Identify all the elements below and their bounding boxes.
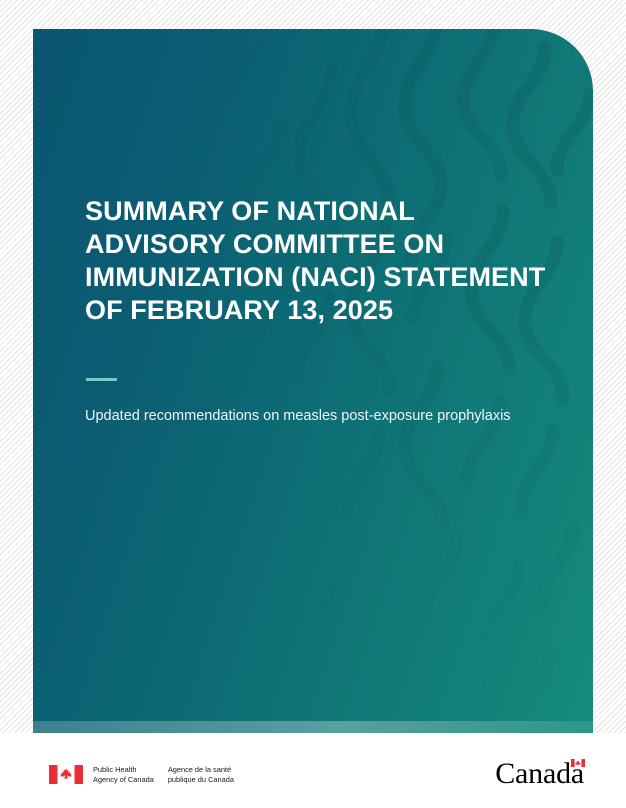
page-title: SUMMARY OF NATIONAL ADVISORY COMMITTEE O… (85, 195, 551, 327)
signature-text-english: Public Health Agency of Canada (93, 765, 154, 783)
cover-panel: SUMMARY OF NATIONAL ADVISORY COMMITTEE O… (33, 29, 593, 733)
cover-text-block: SUMMARY OF NATIONAL ADVISORY COMMITTEE O… (85, 195, 551, 426)
signature-wordmark: Public Health Agency of Canada Agence de… (93, 765, 234, 783)
canada-wordmark: Canada (495, 759, 584, 789)
canada-flag-icon (49, 765, 83, 784)
federal-identity-signature: Public Health Agency of Canada Agence de… (49, 765, 234, 784)
page-subtitle: Updated recommendations on measles post-… (85, 406, 551, 426)
signature-text-french: Agence de la santé publique du Canada (168, 765, 234, 783)
canada-flag-icon (571, 759, 585, 767)
title-divider-rule (86, 378, 117, 381)
panel-bottom-strip (33, 721, 593, 733)
document-page: SUMMARY OF NATIONAL ADVISORY COMMITTEE O… (0, 0, 626, 808)
page-footer: Public Health Agency of Canada Agence de… (0, 733, 626, 808)
